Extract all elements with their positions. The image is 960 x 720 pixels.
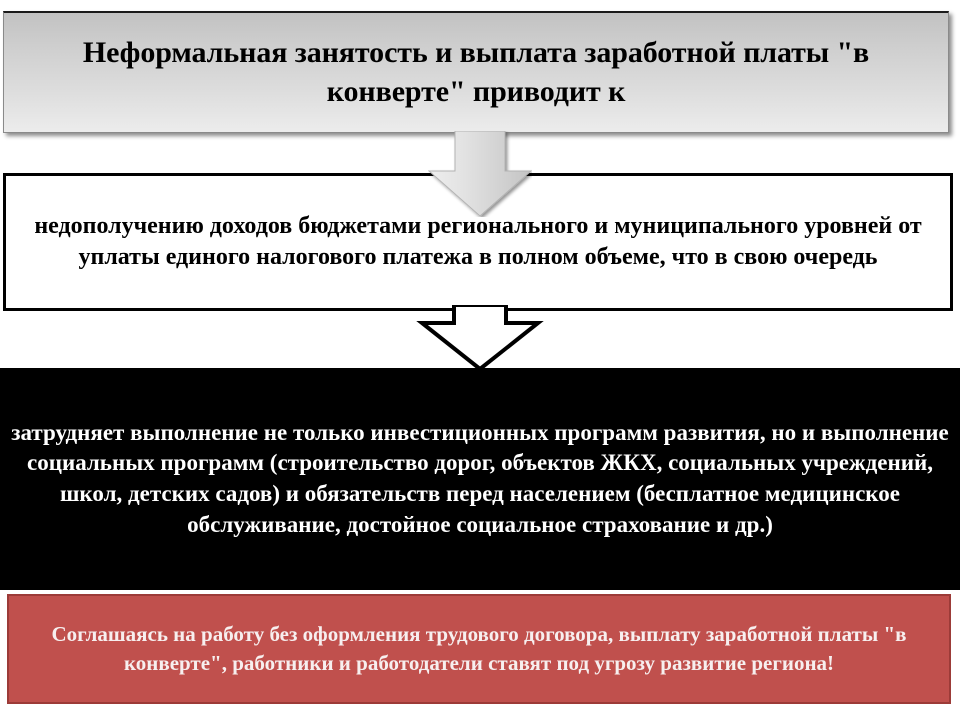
consequence-2-box: затрудняет выполнение не только инвестиц… [0, 368, 960, 590]
slide-canvas: Неформальная занятость и выплата заработ… [0, 0, 960, 720]
consequence-2-text: затрудняет выполнение не только инвестиц… [0, 418, 960, 540]
consequence-1-text: недополучению доходов бюджетами регионал… [6, 211, 950, 273]
conclusion-text: Соглашаясь на работу без оформления труд… [9, 620, 949, 677]
title-banner: Неформальная занятость и выплата заработ… [3, 11, 949, 133]
conclusion-box: Соглашаясь на работу без оформления труд… [7, 594, 951, 704]
arrow-down-grey-icon [428, 131, 532, 217]
arrow-down-outlined-icon [408, 305, 552, 371]
title-banner-text: Неформальная занятость и выплата заработ… [4, 34, 948, 111]
